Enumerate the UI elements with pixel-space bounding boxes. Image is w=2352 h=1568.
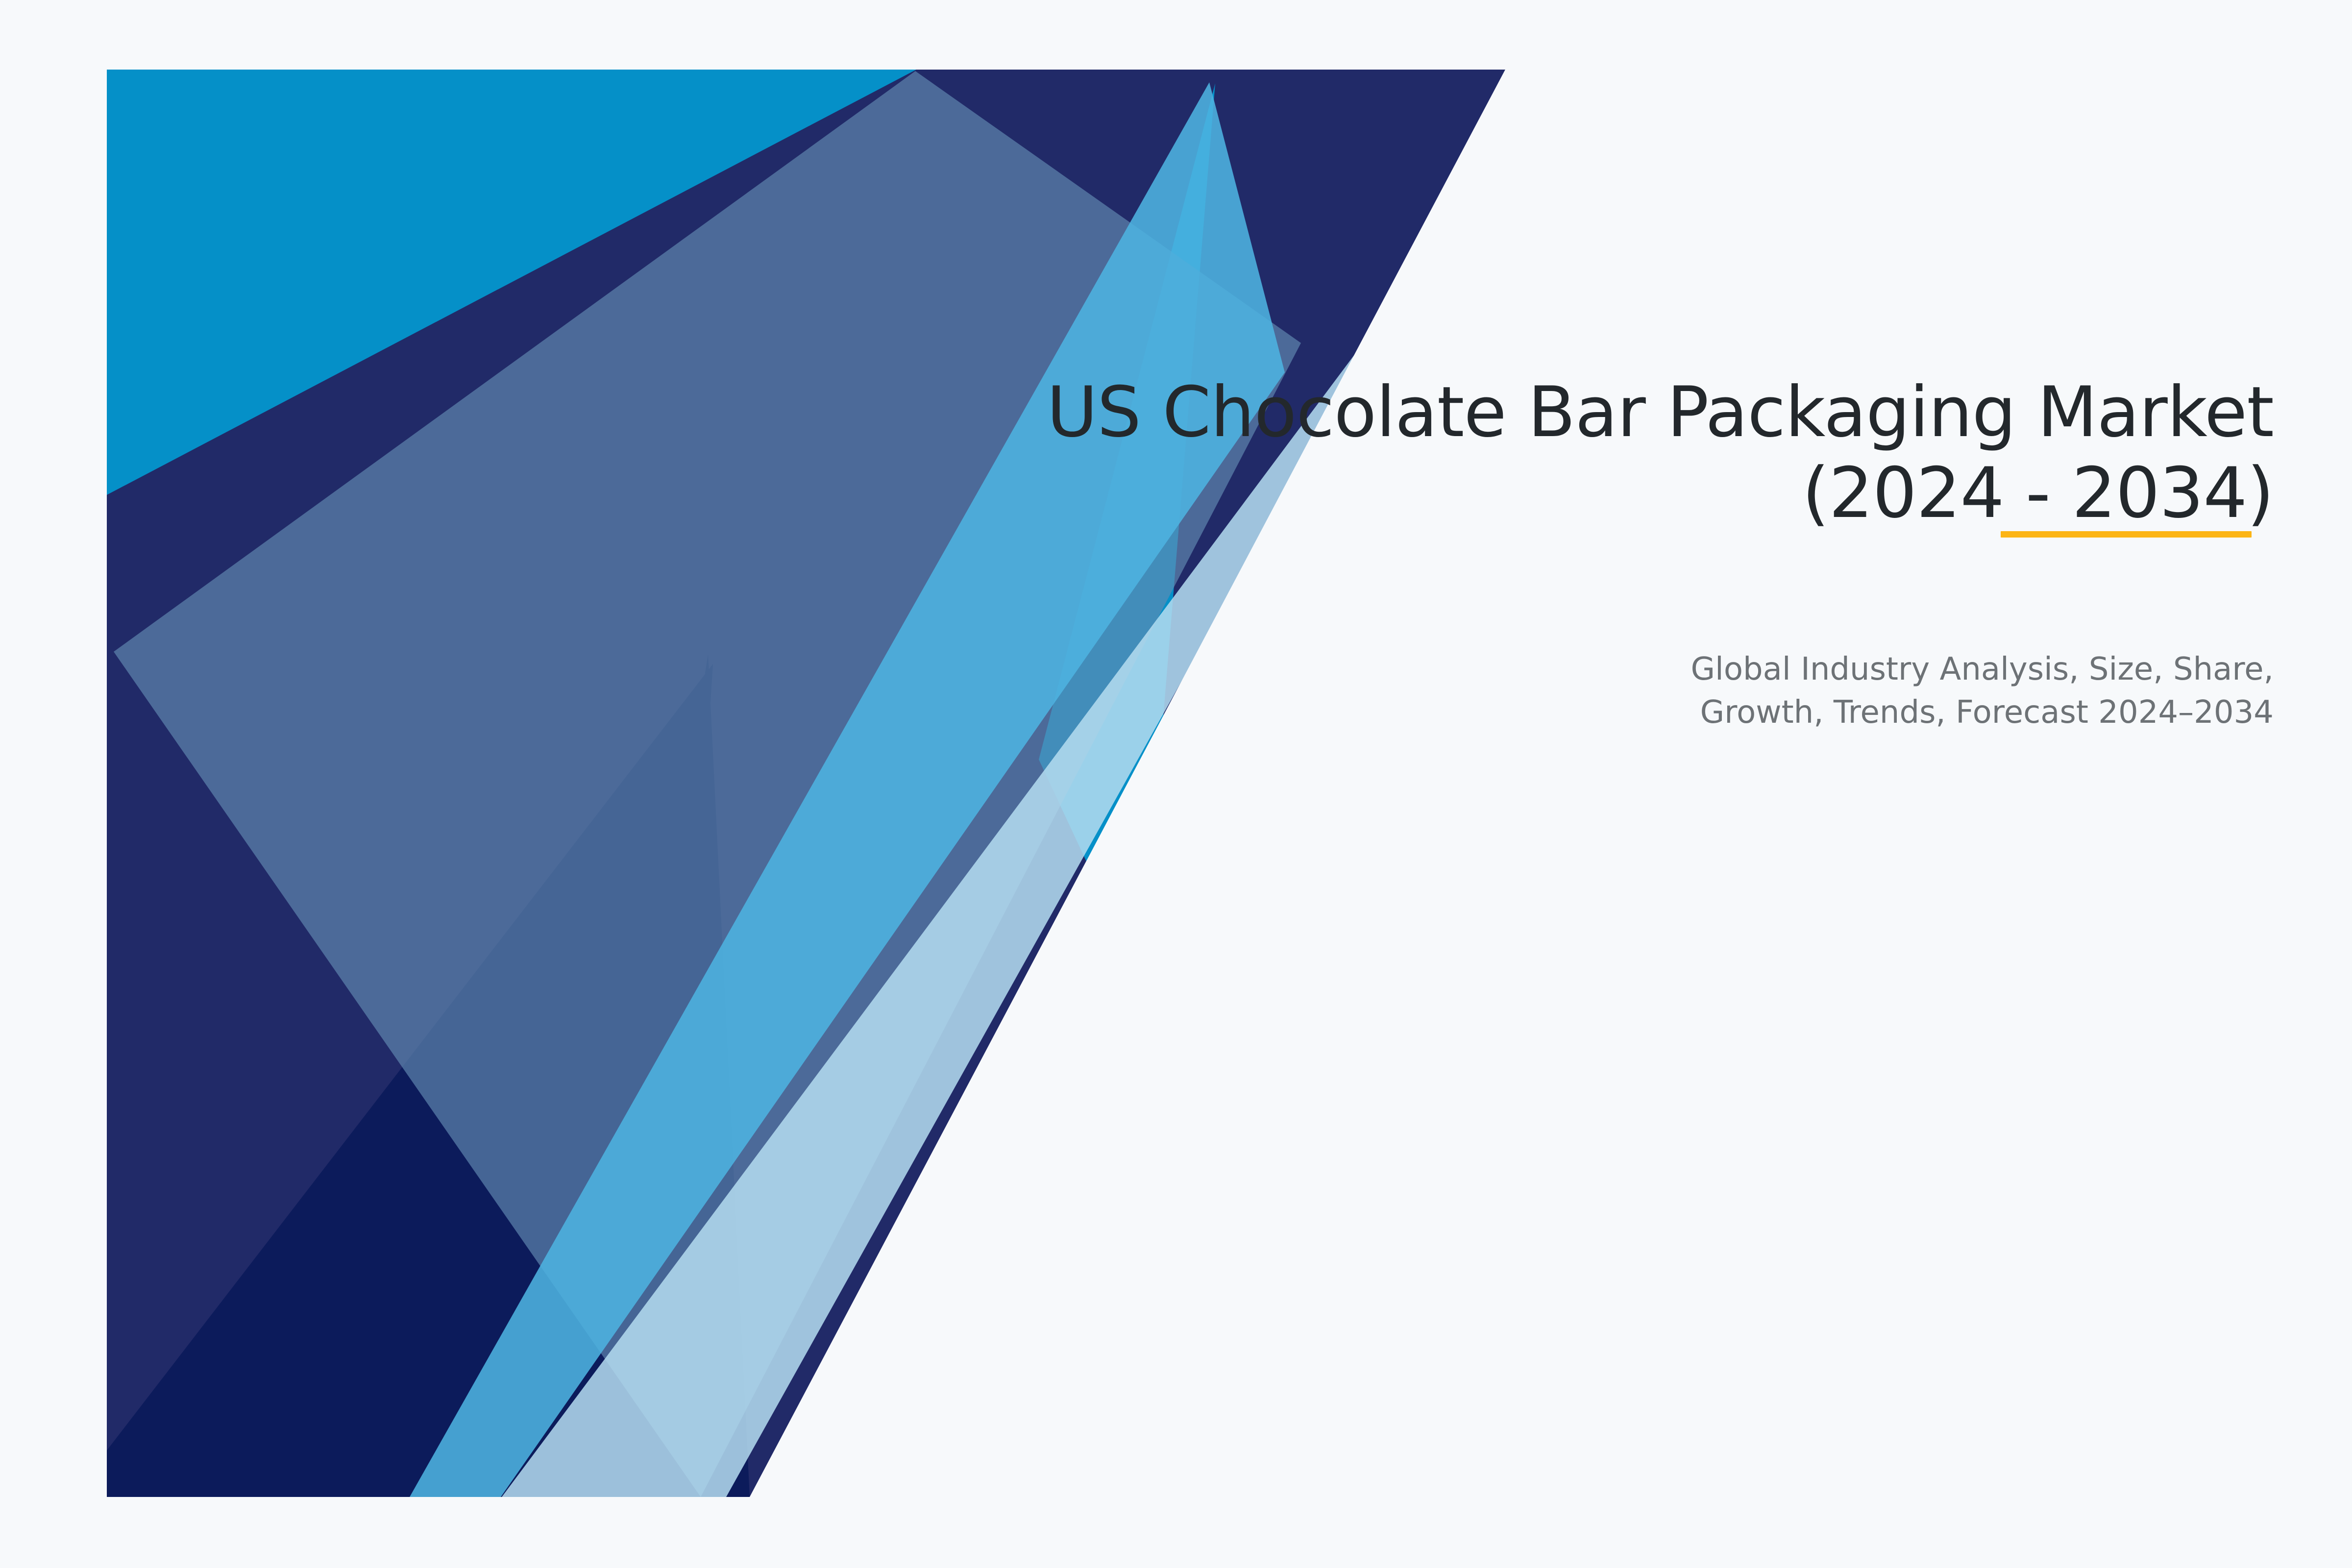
abstract-geometric-cover-art [0, 0, 2352, 1568]
cover-page: US Chocolate Bar Packaging Market (2024 … [0, 0, 2352, 1568]
title-block: US Chocolate Bar Packaging Market (2024 … [833, 372, 2274, 534]
page-title: US Chocolate Bar Packaging Market (2024 … [833, 372, 2274, 534]
page-subtitle: Global Industry Analysis, Size, Share, G… [1274, 648, 2274, 735]
accent-underline [2001, 531, 2252, 538]
